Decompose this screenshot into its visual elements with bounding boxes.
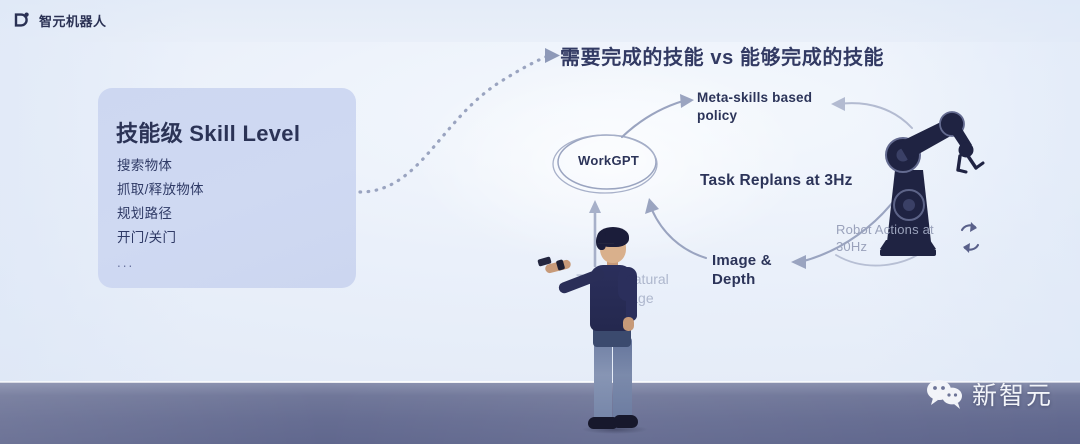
presenter-leg-left (594, 337, 612, 422)
list-item: 抓取/释放物体 (117, 178, 204, 202)
list-item: 规划路径 (117, 202, 204, 226)
workgpt-node-label: WorkGPT (578, 153, 639, 168)
aigibot-d-logo-icon (12, 10, 32, 30)
skill-card-list: 搜索物体 抓取/释放物体 规划路径 开门/关门 ... (117, 154, 204, 276)
presenter-shoe-left (588, 417, 617, 429)
presenter-glasses (598, 243, 614, 248)
presenter-arm-right (626, 275, 637, 321)
task-replans-label: Task Replans at 3Hz (700, 172, 853, 190)
list-item: 搜索物体 (117, 154, 204, 178)
list-item-ellipsis: ... (117, 250, 204, 276)
watermark-text: 新智元 (972, 376, 1053, 412)
list-item: 开门/关门 (117, 226, 204, 250)
presenter-on-stage (560, 225, 670, 437)
wechat-icon (925, 378, 965, 410)
floor-sheen (0, 382, 1080, 444)
meta-policy-label: Meta-skills based policy (697, 89, 817, 125)
skill-card-title: 技能级 Skill Level (116, 116, 300, 148)
brand-logo: 智元机器人 (12, 10, 107, 30)
skill-level-card: 技能级 Skill Level 搜索物体 抓取/释放物体 规划路径 开门/关门 … (98, 88, 356, 288)
presenter-hand-right (623, 317, 634, 331)
brand-name: 智元机器人 (39, 11, 107, 30)
floor-wall-edge (0, 381, 1080, 383)
robot-actions-label: Robot Actions at 30Hz (836, 221, 944, 255)
slide-headline: 需要完成的技能 vs 能够完成的技能 (560, 41, 884, 70)
presenter-shoe-right (614, 415, 638, 428)
channel-watermark: 新智元 (925, 376, 1053, 412)
presenter-leg-right (613, 337, 632, 422)
screenshot-root: 智元机器人 技能级 Skill Level 搜索物体 抓取/释放物体 规划路径 … (0, 0, 1080, 444)
image-depth-label: Image & Depth (712, 251, 782, 289)
